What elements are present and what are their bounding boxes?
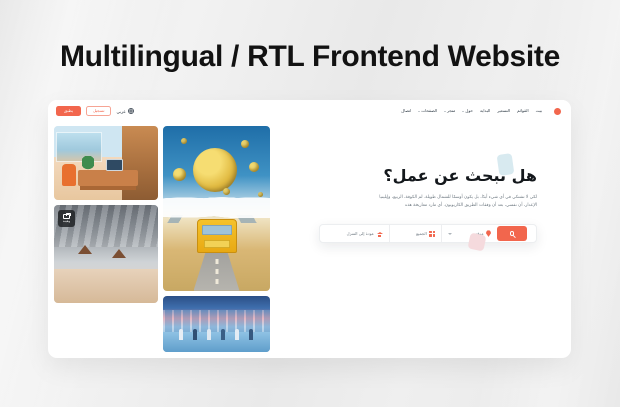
nav-item-about-label: حول	[465, 109, 473, 113]
person-shape	[193, 329, 197, 340]
gallery-column-left: وظيفة	[54, 126, 158, 352]
nav-item-start[interactable]: البداية	[480, 109, 490, 113]
nav-item-about[interactable]: حول	[462, 109, 473, 113]
gallery-image-office-desk-window[interactable]	[54, 126, 158, 200]
person-shape	[207, 329, 211, 340]
nav-item-pricing-label: التسعير	[497, 109, 510, 113]
chevron-down-icon	[444, 111, 446, 112]
grid-icon	[429, 231, 435, 237]
login-button-label: تسجيل	[93, 109, 105, 113]
nav-item-shop[interactable]: متجر	[444, 109, 455, 113]
website-preview-card: بيت القوائم التسعير البداية حول متجر الص…	[48, 100, 571, 358]
person-shape	[235, 329, 239, 340]
nav-item-home-label: بيت	[536, 109, 542, 113]
planet-shape	[173, 168, 186, 181]
desk-shape	[78, 170, 138, 186]
nav-item-listings[interactable]: القوائم	[517, 109, 529, 113]
hero-image-gallery: وظيفة	[48, 122, 270, 358]
search-icon	[510, 231, 515, 236]
nav-item-home[interactable]: بيت	[536, 109, 542, 113]
job-badge[interactable]: وظيفة	[58, 210, 75, 227]
chevron-down-icon	[448, 233, 452, 235]
briefcase-icon	[63, 214, 70, 219]
planet-shape	[181, 138, 187, 144]
job-search-bar: موقع الجميع عودة إلى المنزل	[319, 224, 537, 243]
nav-item-contact[interactable]: اتصال	[401, 109, 411, 113]
nav-item-shop-label: متجر	[447, 109, 455, 113]
hero-section: هل تبحث عن عمل؟ لكي لا تشتكي في أي شيء أ…	[270, 122, 571, 358]
home-icon	[377, 231, 383, 237]
nav-item-pricing[interactable]: التسعير	[497, 109, 510, 113]
hero-paragraph: لكي لا تشتكي في أي شيء أبدًا، بل يكون أو…	[375, 194, 537, 210]
search-field-category-value: الجميع	[416, 231, 427, 236]
person-shape	[179, 329, 183, 340]
planet-shape	[241, 140, 249, 148]
search-field-keyword[interactable]: عودة إلى المنزل	[320, 225, 390, 242]
person-shape	[249, 329, 253, 340]
page-title: Multilingual / RTL Frontend Website	[0, 40, 620, 74]
search-field-category[interactable]: الجميع	[390, 225, 443, 242]
person-shape	[221, 329, 225, 340]
nav-item-pages-label: الصفحات	[421, 109, 437, 113]
pendant-lamp-shape	[112, 249, 126, 258]
gallery-image-school-bus-planets[interactable]	[163, 126, 270, 291]
pendant-lamp-shape	[78, 245, 92, 254]
planet-shape	[249, 162, 259, 172]
pin-icon	[486, 230, 491, 237]
navbar-actions: عربي تسجيل يطبق	[56, 106, 134, 116]
nav-item-contact-label: اتصال	[401, 109, 411, 113]
globe-icon	[128, 108, 134, 114]
floating-square-blue	[497, 153, 515, 176]
planet-shape	[258, 192, 263, 197]
search-field-keyword-value: عودة إلى المنزل	[347, 231, 375, 236]
monitor-shape	[106, 159, 123, 171]
nav-item-pages[interactable]: الصفحات	[418, 109, 437, 113]
search-submit-button[interactable]	[497, 226, 527, 241]
chair-shape	[62, 164, 76, 186]
floor-shape	[54, 269, 158, 303]
nav-links: بيت القوائم التسعير البداية حول متجر الص…	[401, 109, 542, 113]
job-badge-label: وظيفة	[63, 220, 70, 223]
language-switcher[interactable]: عربي	[116, 108, 133, 114]
chevron-down-icon	[462, 111, 464, 112]
nav-item-listings-label: القوائم	[517, 109, 529, 113]
nav-item-start-label: البداية	[480, 109, 490, 113]
school-bus-shape	[197, 219, 237, 253]
planet-shape	[223, 188, 230, 195]
chevron-down-icon	[418, 111, 420, 112]
cloud-shape	[163, 192, 270, 218]
gallery-image-mall-interior[interactable]	[163, 296, 270, 352]
language-label: عربي	[116, 109, 125, 114]
gallery-image-open-plan-ceiling[interactable]: وظيفة	[54, 205, 158, 303]
site-body: وظيفة	[48, 122, 571, 358]
planet-shape	[193, 148, 237, 192]
site-navbar: بيت القوائم التسعير البداية حول متجر الص…	[48, 100, 571, 122]
signup-button-label: يطبق	[64, 109, 73, 113]
brand-dot-icon[interactable]	[554, 108, 561, 115]
signup-button[interactable]: يطبق	[56, 106, 81, 115]
login-button[interactable]: تسجيل	[86, 106, 112, 116]
floating-square-pink	[468, 233, 487, 252]
gallery-column-right	[163, 126, 270, 352]
